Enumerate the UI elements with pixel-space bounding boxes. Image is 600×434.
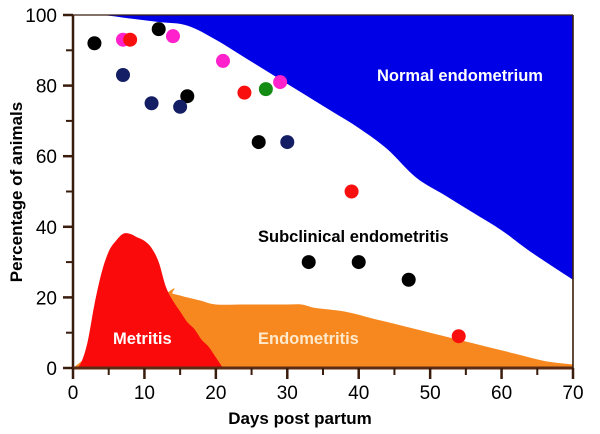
data-point [116, 68, 130, 82]
data-point [280, 135, 294, 149]
tick-label: 0 [68, 383, 79, 404]
data-point [123, 33, 137, 47]
chart-figure: Normal endometrium Subclinical endometri… [0, 0, 600, 434]
data-point [452, 329, 466, 343]
data-point [173, 100, 187, 114]
tick-label: 50 [420, 383, 441, 404]
data-point [145, 96, 159, 110]
label-metritis: Metritis [113, 330, 172, 348]
label-normal-endometrium: Normal endometrium [377, 67, 543, 85]
data-point [252, 135, 266, 149]
tick-label: 80 [36, 77, 57, 98]
data-point [237, 86, 251, 100]
data-point [302, 255, 316, 269]
data-point [216, 54, 230, 68]
data-point [345, 185, 359, 199]
x-axis-title: Days post partum [228, 409, 372, 428]
tick-label: 100 [25, 6, 57, 27]
tick-label: 20 [205, 383, 226, 404]
data-point [166, 29, 180, 43]
tick-label: 40 [348, 383, 369, 404]
tick-label: 70 [562, 383, 583, 404]
tick-label: 60 [491, 383, 512, 404]
data-point [402, 273, 416, 287]
data-point [352, 255, 366, 269]
tick-label: 0 [46, 359, 57, 380]
data-point [259, 82, 273, 96]
tick-label: 10 [134, 383, 155, 404]
y-axis-title: Percentage of animals [7, 102, 26, 282]
label-subclinical-endometritis: Subclinical endometritis [258, 228, 449, 246]
tick-label: 30 [277, 383, 298, 404]
tick-label: 60 [36, 147, 57, 168]
tick-label: 40 [36, 218, 57, 239]
label-endometritis: Endometritis [258, 330, 359, 348]
data-point [152, 22, 166, 36]
tick-label: 20 [36, 288, 57, 309]
chart-canvas: Normal endometrium Subclinical endometri… [0, 0, 600, 434]
data-point [273, 75, 287, 89]
data-point [87, 36, 101, 50]
